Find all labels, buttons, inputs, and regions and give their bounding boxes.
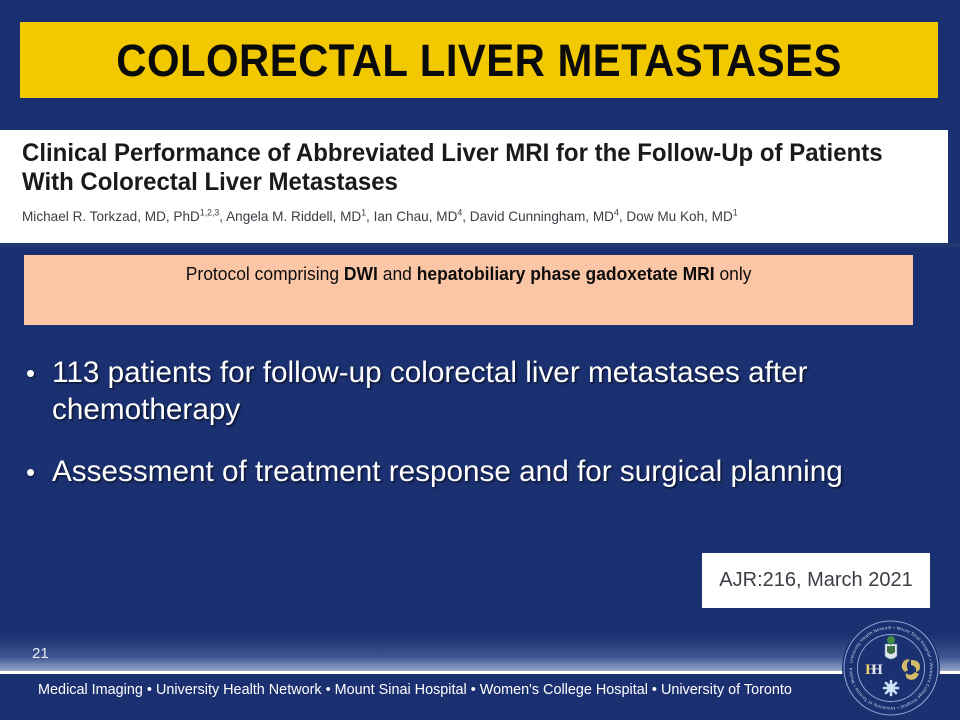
protocol-callout-box: Protocol comprising DWI and hepatobiliar… bbox=[24, 255, 913, 325]
bullet-text-2: Assessment of treatment response and for… bbox=[52, 454, 922, 491]
list-item: • Assessment of treatment response and f… bbox=[26, 454, 931, 491]
author-3: Ian Chau, MD4 bbox=[374, 208, 463, 224]
bullet-list: • 113 patients for follow-up colorectal … bbox=[26, 355, 931, 517]
article-title: Clinical Performance of Abbreviated Live… bbox=[22, 139, 898, 198]
page-number: 21 bbox=[32, 645, 49, 662]
partnership-crest-logo-icon: University Health Network • Mount Sinai … bbox=[841, 618, 941, 718]
article-authors: Michael R. Torkzad, MD, PhD1,2,3, Angela… bbox=[22, 208, 914, 224]
citation-text: AJR:216, March 2021 bbox=[719, 569, 912, 592]
slide-title-banner: COLORECTAL LIVER METASTASES bbox=[20, 22, 938, 98]
author-4: David Cunningham, MD4 bbox=[470, 208, 619, 224]
protocol-suffix: only bbox=[714, 264, 751, 284]
article-strip-underline bbox=[0, 243, 960, 247]
protocol-term-dwi: DWI bbox=[344, 264, 378, 284]
author-2: Angela M. Riddell, MD1 bbox=[226, 208, 366, 224]
slide-canvas: COLORECTAL LIVER METASTASES Clinical Per… bbox=[0, 0, 960, 720]
bullet-marker-icon: • bbox=[26, 355, 52, 391]
author-5: Dow Mu Koh, MD1 bbox=[626, 208, 737, 224]
citation-box: AJR:216, March 2021 bbox=[702, 553, 930, 608]
list-item: • 113 patients for follow-up colorectal … bbox=[26, 355, 931, 428]
protocol-middle: and bbox=[378, 264, 417, 284]
footer-affiliation-text: Medical Imaging • University Health Netw… bbox=[17, 681, 814, 698]
article-header-strip: Clinical Performance of Abbreviated Live… bbox=[0, 130, 948, 243]
footer-gradient-band bbox=[0, 620, 960, 672]
protocol-term-gadoxetate: hepatobiliary phase gadoxetate MRI bbox=[417, 264, 715, 284]
bullet-marker-icon: • bbox=[26, 454, 52, 490]
author-1: Michael R. Torkzad, MD, PhD1,2,3 bbox=[22, 208, 219, 224]
protocol-prefix: Protocol comprising bbox=[186, 264, 344, 284]
svg-text:H: H bbox=[871, 662, 883, 678]
slide-title: COLORECTAL LIVER METASTASES bbox=[116, 38, 842, 83]
protocol-text: Protocol comprising DWI and hepatobiliar… bbox=[186, 264, 752, 285]
bullet-text-1: 113 patients for follow-up colorectal li… bbox=[52, 355, 922, 428]
